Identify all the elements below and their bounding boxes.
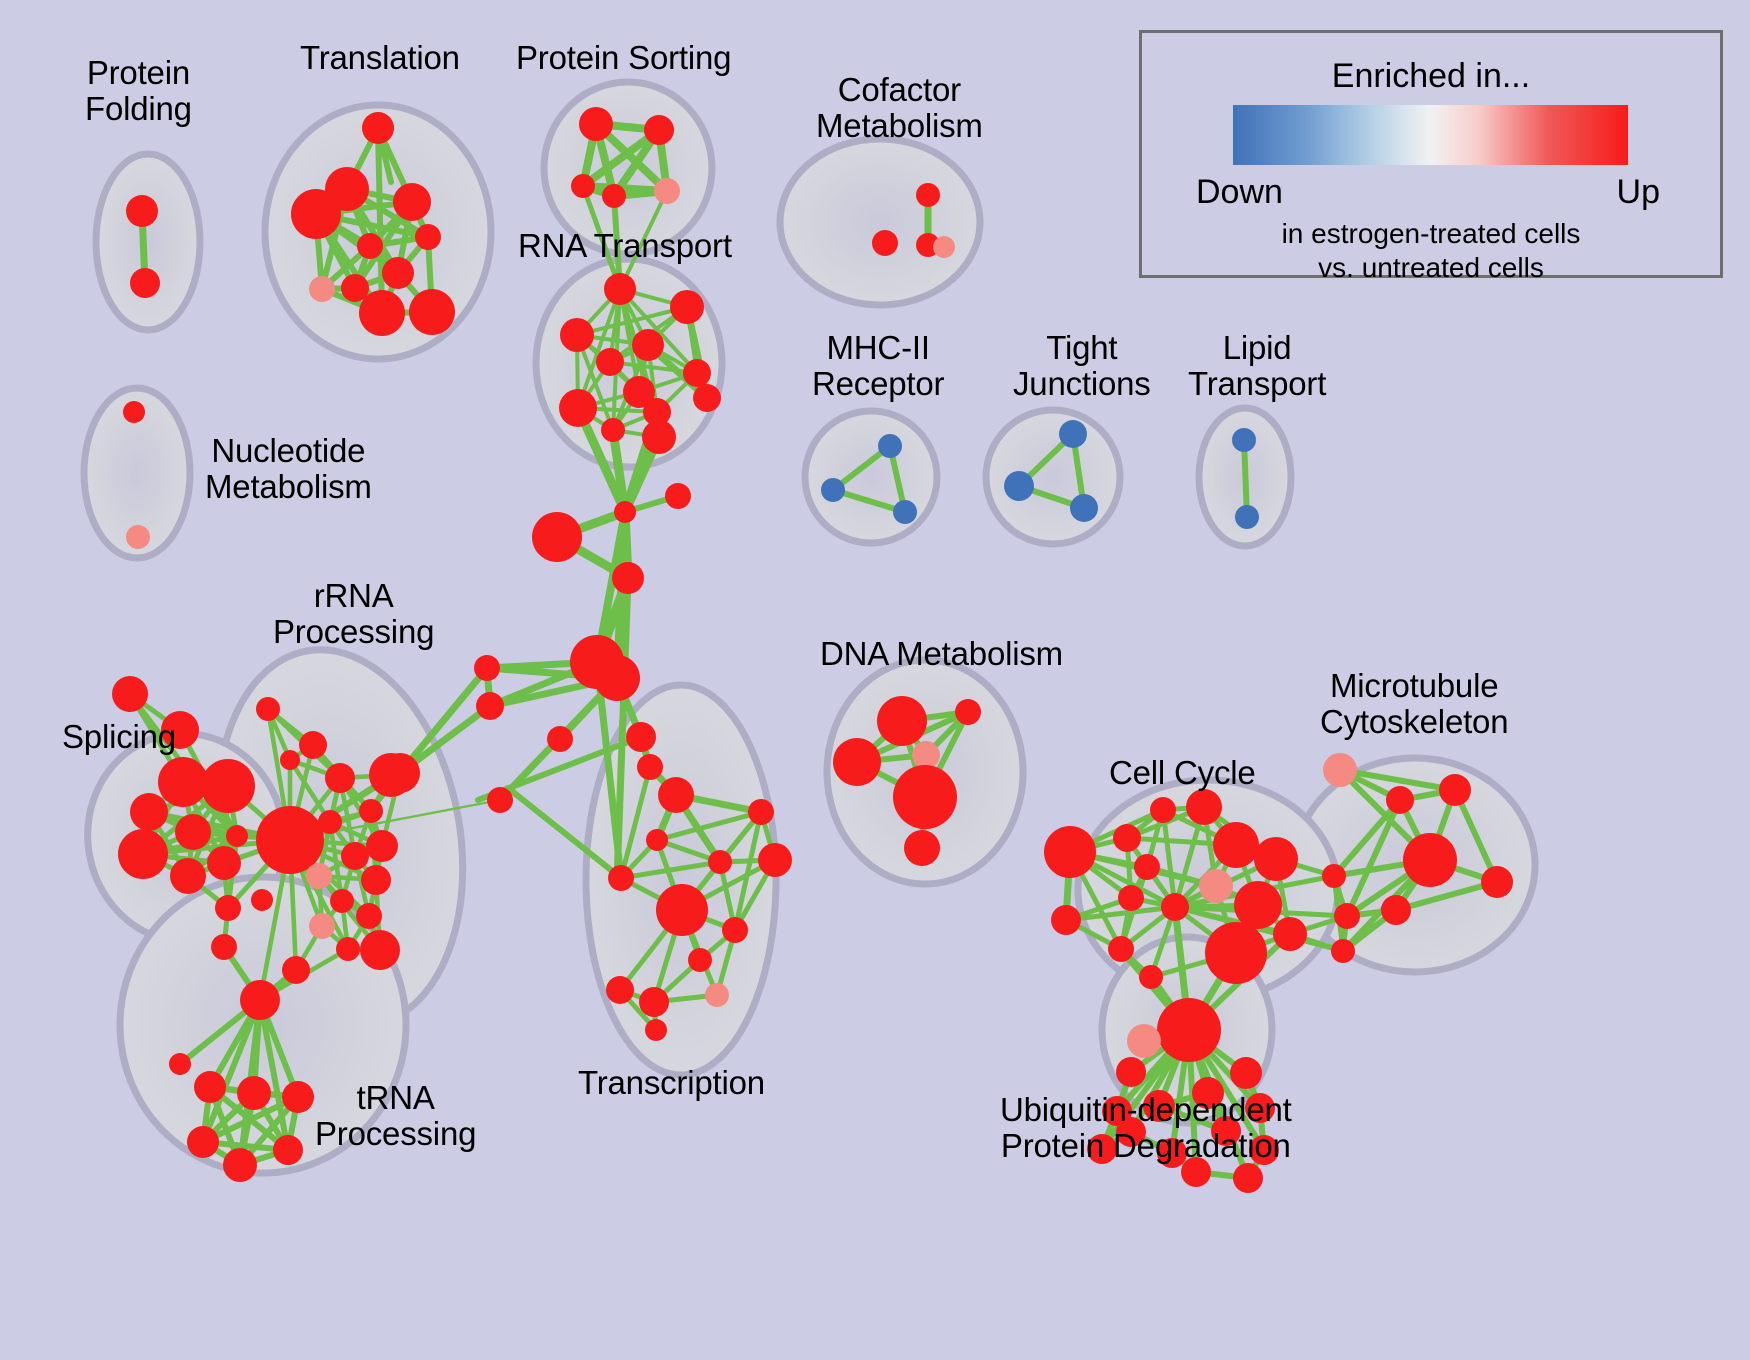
node [893, 765, 957, 829]
node [1230, 1057, 1262, 1089]
node [1213, 822, 1259, 868]
node [282, 956, 310, 984]
node [1481, 866, 1513, 898]
node [608, 865, 634, 891]
color-scale-bar [1233, 105, 1628, 165]
node [306, 863, 332, 889]
node [359, 290, 405, 336]
legend-caption-line-1: in estrogen-treated cells [1142, 218, 1720, 250]
node [1070, 494, 1098, 522]
node [532, 512, 582, 562]
node [1233, 1163, 1263, 1193]
node [1118, 885, 1144, 911]
cluster-label-protein-folding: Protein Folding [85, 55, 192, 126]
node [1254, 837, 1298, 881]
legend-title: Enriched in... [1142, 57, 1720, 96]
cluster-label-ubiquitin-degradation: Ubiquitin-dependent Protein Degradation [1000, 1092, 1292, 1163]
node [187, 1126, 219, 1158]
node [256, 697, 280, 721]
cluster-label-lipid-transport: Lipid Transport [1188, 330, 1326, 401]
node [596, 348, 624, 376]
node [341, 842, 369, 870]
node [1232, 428, 1256, 452]
node [688, 948, 712, 972]
node [126, 525, 150, 549]
node [226, 825, 248, 847]
legend-panel: Enriched in... Down Up in estrogen-treat… [1139, 30, 1723, 278]
node [1157, 998, 1221, 1062]
node [547, 726, 573, 752]
node [237, 1076, 271, 1110]
cluster-label-microtubule-cytoskeleton: Microtubule Cytoskeleton [1320, 668, 1508, 739]
node [912, 741, 940, 769]
node [601, 418, 625, 442]
node [916, 183, 940, 207]
node [130, 268, 160, 298]
node [380, 753, 420, 793]
cluster-label-dna-metabolism: DNA Metabolism [820, 636, 1063, 672]
node [1139, 965, 1163, 989]
node [1059, 420, 1087, 448]
node [705, 983, 729, 1007]
cluster-label-mhc-ii-receptor: MHC-II Receptor [812, 330, 944, 401]
node [474, 655, 500, 681]
cluster-label-nucleotide-metabolism: Nucleotide Metabolism [205, 433, 372, 504]
node [1386, 786, 1414, 814]
node [1044, 826, 1096, 878]
legend-low-label: Down [1196, 173, 1283, 212]
node [645, 1019, 667, 1041]
node [654, 178, 680, 204]
node [1108, 936, 1134, 962]
node [359, 799, 383, 823]
node [1161, 893, 1189, 921]
node [1113, 824, 1141, 852]
node [1186, 789, 1222, 825]
node [1381, 895, 1411, 925]
node [758, 843, 792, 877]
node [955, 699, 981, 725]
node [309, 276, 335, 302]
node [207, 846, 241, 880]
node [602, 184, 626, 208]
node [933, 236, 955, 258]
node [1205, 922, 1267, 984]
cluster-label-rrna-processing: rRNA Processing [273, 578, 434, 649]
node [1322, 864, 1346, 888]
node [1439, 774, 1471, 806]
node [409, 289, 455, 335]
node [256, 806, 324, 874]
node [487, 787, 513, 813]
node [211, 934, 237, 960]
node [112, 676, 148, 712]
node [169, 1053, 191, 1075]
node [1134, 854, 1160, 880]
node [665, 483, 691, 509]
node [658, 777, 694, 813]
node [360, 930, 400, 970]
node [644, 115, 674, 145]
node [280, 750, 300, 770]
cluster-label-trna-processing: tRNA Processing [315, 1080, 476, 1151]
node [872, 230, 898, 256]
node [201, 759, 255, 813]
node [291, 189, 341, 239]
hull-protein-folding [96, 154, 200, 330]
node [560, 318, 594, 352]
node [670, 290, 704, 324]
node [693, 384, 721, 412]
node [194, 1071, 226, 1103]
node [361, 865, 391, 895]
node [893, 500, 917, 524]
node [708, 850, 732, 874]
node [1234, 881, 1282, 929]
node [240, 980, 280, 1020]
node [223, 1148, 257, 1182]
hull-tight-junctions [986, 410, 1120, 544]
node [1150, 797, 1176, 823]
node [559, 389, 597, 427]
node [330, 889, 354, 913]
node [878, 434, 902, 458]
node [282, 1081, 314, 1113]
node [637, 754, 663, 780]
node [656, 884, 708, 936]
legend-caption-line-2: vs. untreated cells [1142, 252, 1720, 284]
node [215, 895, 241, 921]
cluster-label-rna-transport: RNA Transport [518, 228, 732, 264]
cluster-label-protein-sorting: Protein Sorting [516, 40, 731, 76]
node [1331, 939, 1355, 963]
node [251, 889, 273, 911]
node [642, 420, 676, 454]
node [273, 1135, 303, 1165]
cluster-label-splicing: Splicing [62, 719, 176, 755]
node [1116, 1057, 1146, 1087]
hull-cofactor [780, 139, 980, 305]
node [748, 799, 774, 825]
node [318, 810, 342, 834]
cluster-label-cell-cycle: Cell Cycle [1109, 755, 1256, 791]
cluster-label-transcription: Transcription [578, 1065, 765, 1101]
node [362, 112, 394, 144]
node [646, 829, 668, 851]
node [594, 655, 640, 701]
node [476, 692, 504, 720]
node [158, 757, 208, 807]
node [309, 913, 335, 939]
node [393, 183, 431, 221]
node [356, 903, 382, 929]
node [877, 696, 927, 746]
node [683, 359, 711, 387]
node [1004, 471, 1034, 501]
node [357, 233, 383, 259]
node [366, 830, 398, 862]
legend-high-label: Up [1617, 173, 1660, 212]
node [606, 976, 634, 1004]
node [175, 814, 211, 850]
node [1323, 753, 1357, 787]
node [126, 195, 158, 227]
node [170, 858, 206, 894]
node [614, 501, 636, 523]
node [571, 174, 595, 198]
node [1273, 917, 1307, 951]
node [722, 917, 748, 943]
node [336, 937, 360, 961]
enrichment-network-figure: Protein Folding Translation Protein Sort… [0, 0, 1750, 1360]
node [821, 478, 845, 502]
node [1199, 869, 1233, 903]
node [1235, 505, 1259, 529]
node [612, 562, 644, 594]
node [632, 329, 664, 361]
node [579, 107, 613, 141]
node [904, 830, 940, 866]
node [118, 829, 168, 879]
node [626, 722, 656, 752]
node [130, 793, 168, 831]
cluster-label-translation: Translation [300, 40, 460, 76]
node [833, 738, 881, 786]
node [123, 401, 145, 423]
node [1127, 1024, 1161, 1058]
node [299, 731, 327, 759]
node [604, 273, 636, 305]
node [1403, 833, 1457, 887]
node [382, 257, 414, 289]
cluster-label-tight-junctions: Tight Junctions [1013, 330, 1151, 401]
node [639, 987, 669, 1017]
node [1334, 903, 1360, 929]
node [1051, 905, 1081, 935]
node [415, 224, 441, 250]
node [325, 763, 355, 793]
cluster-label-cofactor-metabolism: Cofactor Metabolism [816, 72, 983, 143]
hull-mhc [805, 411, 937, 543]
